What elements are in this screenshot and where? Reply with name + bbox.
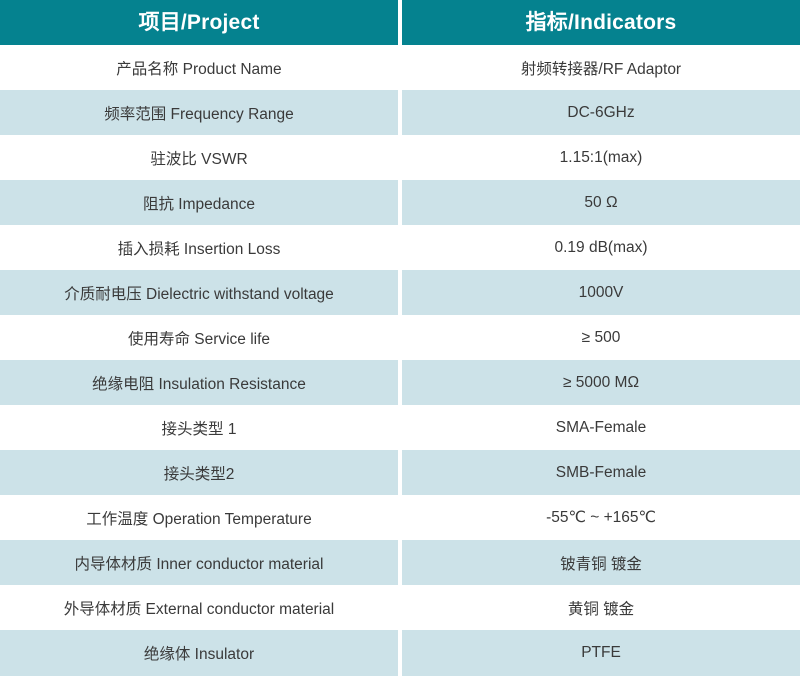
cell-project: 工作温度 Operation Temperature <box>0 495 398 540</box>
table-row: 工作温度 Operation Temperature-55℃ ~ +165℃ <box>0 495 800 540</box>
cell-project: 绝缘电阻 Insulation Resistance <box>0 360 398 405</box>
cell-indicator: 铍青铜 镀金 <box>402 540 800 585</box>
table-header: 项目/Project 指标/Indicators <box>0 0 800 45</box>
cell-indicator: ≥ 500 <box>402 315 800 360</box>
cell-indicator: 50 Ω <box>402 180 800 225</box>
table-row: 介质耐电压 Dielectric withstand voltage1000V <box>0 270 800 315</box>
column-header-project: 项目/Project <box>0 0 398 45</box>
cell-indicator: 黄铜 镀金 <box>402 585 800 630</box>
table-row: 接头类型2SMB-Female <box>0 450 800 495</box>
table-body: 产品名称 Product Name射频转接器/RF Adaptor频率范围 Fr… <box>0 45 800 676</box>
cell-project: 介质耐电压 Dielectric withstand voltage <box>0 270 398 315</box>
table-row: 接头类型 1SMA-Female <box>0 405 800 450</box>
cell-indicator: 1.15:1(max) <box>402 135 800 180</box>
cell-indicator: 射频转接器/RF Adaptor <box>402 45 800 90</box>
cell-project: 阻抗 Impedance <box>0 180 398 225</box>
table-row: 插入损耗 Insertion Loss0.19 dB(max) <box>0 225 800 270</box>
cell-indicator: SMB-Female <box>402 450 800 495</box>
cell-indicator: SMA-Female <box>402 405 800 450</box>
cell-indicator: PTFE <box>402 630 800 676</box>
cell-indicator: 0.19 dB(max) <box>402 225 800 270</box>
table-header-row: 项目/Project 指标/Indicators <box>0 0 800 45</box>
table-row: 驻波比 VSWR1.15:1(max) <box>0 135 800 180</box>
cell-project: 内导体材质 Inner conductor material <box>0 540 398 585</box>
cell-project: 驻波比 VSWR <box>0 135 398 180</box>
cell-indicator: -55℃ ~ +165℃ <box>402 495 800 540</box>
cell-project: 接头类型 1 <box>0 405 398 450</box>
cell-indicator: DC-6GHz <box>402 90 800 135</box>
table-row: 内导体材质 Inner conductor material铍青铜 镀金 <box>0 540 800 585</box>
column-header-indicators: 指标/Indicators <box>402 0 800 45</box>
table-row: 绝缘体 InsulatorPTFE <box>0 630 800 676</box>
cell-project: 使用寿命 Service life <box>0 315 398 360</box>
cell-project: 绝缘体 Insulator <box>0 630 398 676</box>
cell-indicator: ≥ 5000 MΩ <box>402 360 800 405</box>
cell-project: 插入损耗 Insertion Loss <box>0 225 398 270</box>
cell-project: 接头类型2 <box>0 450 398 495</box>
specification-table: 项目/Project 指标/Indicators 产品名称 Product Na… <box>0 0 800 676</box>
table-row: 外导体材质 External conductor material黄铜 镀金 <box>0 585 800 630</box>
cell-indicator: 1000V <box>402 270 800 315</box>
cell-project: 产品名称 Product Name <box>0 45 398 90</box>
table-row: 阻抗 Impedance50 Ω <box>0 180 800 225</box>
table-row: 使用寿命 Service life≥ 500 <box>0 315 800 360</box>
cell-project: 外导体材质 External conductor material <box>0 585 398 630</box>
cell-project: 频率范围 Frequency Range <box>0 90 398 135</box>
table-row: 频率范围 Frequency RangeDC-6GHz <box>0 90 800 135</box>
table-row: 产品名称 Product Name射频转接器/RF Adaptor <box>0 45 800 90</box>
table-row: 绝缘电阻 Insulation Resistance≥ 5000 MΩ <box>0 360 800 405</box>
